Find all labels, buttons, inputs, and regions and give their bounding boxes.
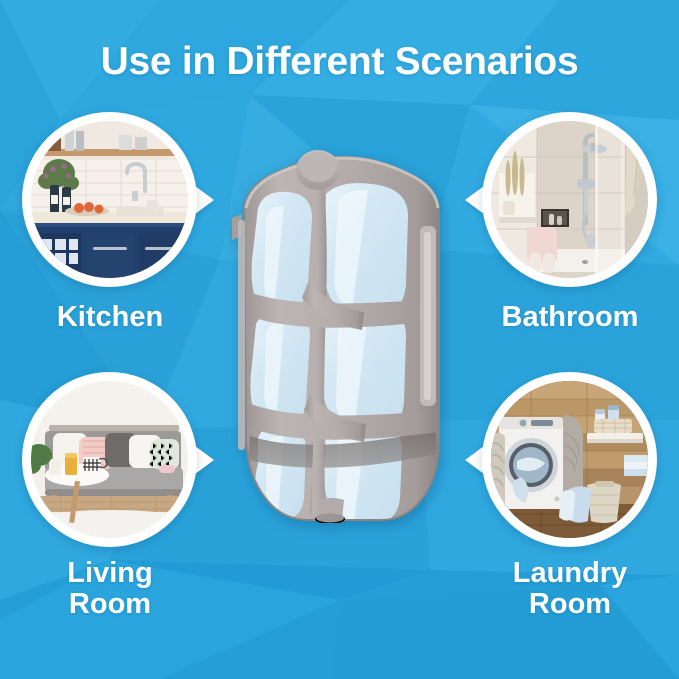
living-room-label-line1: Living <box>0 558 225 589</box>
hamper-bottom-foot <box>315 498 345 523</box>
scenario-living-room[interactable]: Living Room <box>22 372 197 547</box>
living-room-bubble[interactable] <box>22 372 197 547</box>
living-room-photo <box>31 381 188 538</box>
product-image-laundry-hamper <box>222 148 462 523</box>
scenario-kitchen[interactable]: Kitchen <box>22 112 197 287</box>
laundry-room-bubble-wrap <box>482 372 657 547</box>
hamper-top-knob <box>296 150 340 190</box>
scenario-laundry-room[interactable]: Laundry Room <box>482 372 657 547</box>
bathroom-photo <box>491 121 648 278</box>
scenario-bathroom[interactable]: Bathroom <box>482 112 657 287</box>
hamper-left-hinge <box>232 214 245 450</box>
living-room-label: Living Room <box>0 558 225 619</box>
living-room-bubble-wrap <box>22 372 197 547</box>
laundry-room-label-line1: Laundry <box>455 558 679 589</box>
laundry-room-bubble[interactable] <box>482 372 657 547</box>
hamper-right-rail <box>420 226 436 406</box>
page-title: Use in Different Scenarios <box>0 41 679 84</box>
living-room-label-line2: Room <box>0 589 225 620</box>
bathroom-label: Bathroom <box>455 302 679 333</box>
kitchen-label: Kitchen <box>0 302 225 333</box>
bathroom-bubble-wrap <box>482 112 657 287</box>
kitchen-photo <box>31 121 188 278</box>
laundry-room-label: Laundry Room <box>455 558 679 619</box>
laundry-room-label-line2: Room <box>455 589 679 620</box>
scenario-infographic: Use in Different Scenarios <box>0 0 679 679</box>
kitchen-bubble[interactable] <box>22 112 197 287</box>
laundry-room-photo <box>491 381 648 538</box>
bathroom-bubble[interactable] <box>482 112 657 287</box>
kitchen-bubble-wrap <box>22 112 197 287</box>
